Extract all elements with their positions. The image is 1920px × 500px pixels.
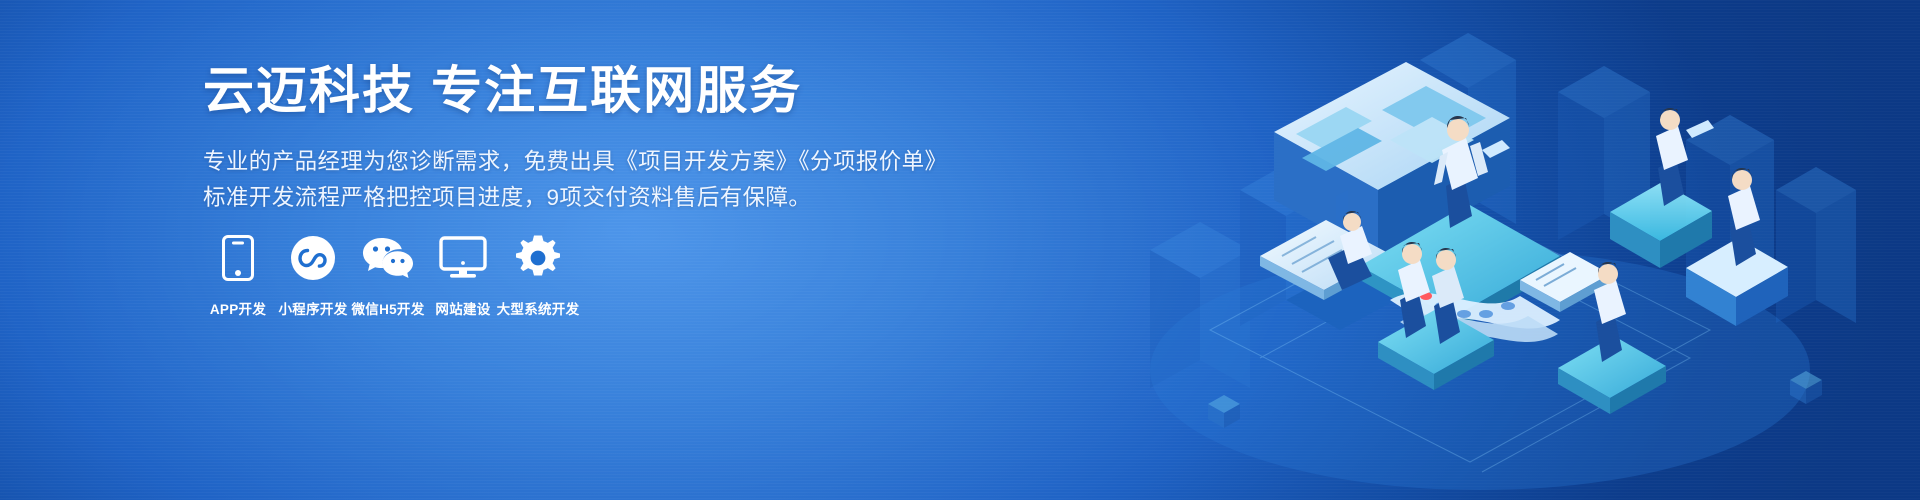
- gear-icon: [515, 232, 561, 284]
- service-label-wechat: 微信H5开发: [351, 298, 424, 318]
- subtitle-line-1: 专业的产品经理为您诊断需求，免费出具《项目开发方案》《分项报价单》: [203, 144, 923, 180]
- banner-copy: 云迈科技 专注互联网服务 专业的产品经理为您诊断需求，免费出具《项目开发方案》《…: [203, 60, 923, 216]
- banner-title: 云迈科技 专注互联网服务: [203, 60, 923, 121]
- service-label-system: 大型系统开发: [497, 298, 580, 318]
- service-icon-row: APP开发 小程序开发 微信: [203, 232, 573, 318]
- service-item-wechat[interactable]: 微信H5开发: [353, 232, 423, 318]
- service-label-app: APP开发: [210, 298, 266, 318]
- service-item-website[interactable]: 网站建设: [428, 232, 498, 318]
- mini-program-icon: [290, 232, 336, 284]
- service-label-miniprogram: 小程序开发: [279, 298, 348, 318]
- hero-banner: 云迈科技 专注互联网服务 专业的产品经理为您诊断需求，免费出具《项目开发方案》《…: [0, 0, 1920, 500]
- mobile-phone-icon: [222, 232, 254, 284]
- service-label-website: 网站建设: [435, 298, 490, 318]
- banner-subtitle: 专业的产品经理为您诊断需求，免费出具《项目开发方案》《分项报价单》 标准开发流程…: [203, 144, 923, 216]
- service-item-app[interactable]: APP开发: [203, 232, 273, 318]
- wechat-icon: [362, 232, 414, 284]
- monitor-icon: [439, 232, 487, 284]
- isometric-tech-illustration: [1090, 0, 1920, 500]
- service-item-miniprogram[interactable]: 小程序开发: [278, 232, 348, 318]
- service-item-system[interactable]: 大型系统开发: [503, 232, 573, 318]
- subtitle-line-2: 标准开发流程严格把控项目进度，9项交付资料售后有保障。: [203, 180, 923, 216]
